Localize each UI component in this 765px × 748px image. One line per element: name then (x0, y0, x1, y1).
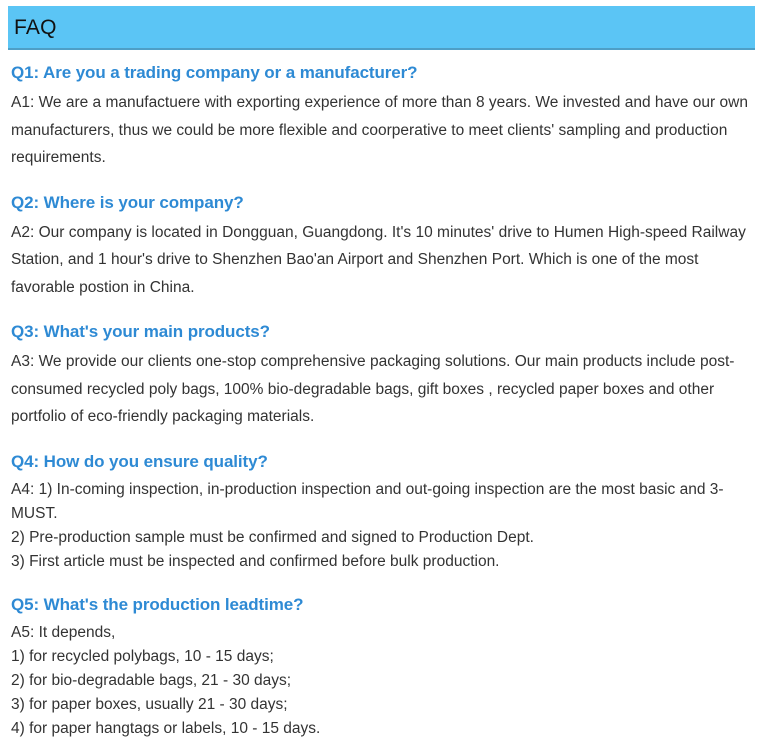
faq-answer-a3: A3: We provide our clients one-stop comp… (11, 348, 753, 431)
faq-item-q1: Q1: Are you a trading company or a manuf… (11, 60, 753, 172)
faq-answer-line: 1) for recycled polybags, 10 - 15 days; (11, 645, 753, 669)
faq-item-q4: Q4: How do you ensure quality? A4: 1) In… (11, 449, 753, 574)
faq-answer-line: 3) First article must be inspected and c… (11, 550, 753, 574)
faq-answer-line: 2) for bio-degradable bags, 21 - 30 days… (11, 669, 753, 693)
faq-answer-line: A5: It depends, (11, 621, 753, 645)
faq-answer-line: 2) Pre-production sample must be confirm… (11, 526, 753, 550)
faq-answer-a2: A2: Our company is located in Dongguan, … (11, 219, 753, 302)
faq-answer-line: A4: 1) In-coming inspection, in-producti… (11, 478, 753, 526)
faq-answer-a5: A5: It depends, 1) for recycled polybags… (11, 621, 753, 741)
page-title: FAQ (8, 17, 57, 38)
faq-item-q2: Q2: Where is your company? A2: Our compa… (11, 190, 753, 302)
faq-question-q4: Q4: How do you ensure quality? (11, 449, 753, 475)
faq-header-bar: FAQ (8, 6, 755, 50)
faq-question-q1: Q1: Are you a trading company or a manuf… (11, 60, 753, 86)
faq-answer-a1: A1: We are a manufactuere with exporting… (11, 89, 753, 172)
faq-question-q2: Q2: Where is your company? (11, 190, 753, 216)
faq-question-q5: Q5: What's the production leadtime? (11, 592, 753, 618)
faq-question-q3: Q3: What's your main products? (11, 319, 753, 345)
faq-item-q5: Q5: What's the production leadtime? A5: … (11, 592, 753, 741)
faq-answer-a4: A4: 1) In-coming inspection, in-producti… (11, 478, 753, 574)
faq-answer-line: 3) for paper boxes, usually 21 - 30 days… (11, 693, 753, 717)
faq-page: FAQ Q1: Are you a trading company or a m… (0, 0, 765, 748)
faq-list: Q1: Are you a trading company or a manuf… (11, 60, 753, 741)
faq-answer-line: 4) for paper hangtags or labels, 10 - 15… (11, 717, 753, 741)
faq-item-q3: Q3: What's your main products? A3: We pr… (11, 319, 753, 431)
